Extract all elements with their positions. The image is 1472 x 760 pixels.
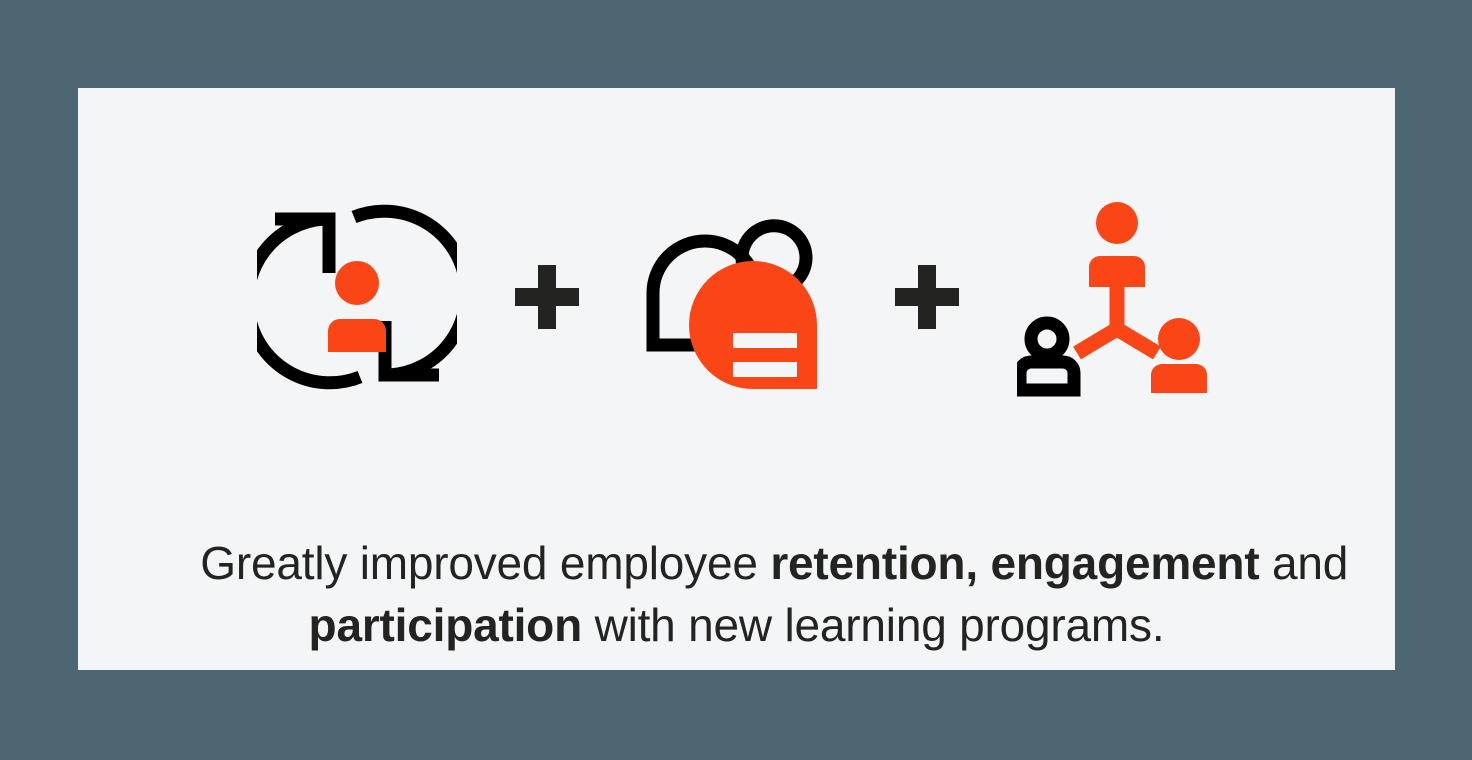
caption-segment — [978, 537, 991, 589]
icon-slot-engagement — [617, 184, 857, 414]
card-caption: Greatly improved employee retention, eng… — [107, 470, 1367, 718]
caption-segment: and — [1259, 537, 1360, 589]
plus-separator-1 — [477, 184, 617, 414]
caption-segment: with new learning programs. — [582, 599, 1164, 651]
content-card: Greatly improved employee retention, eng… — [78, 88, 1395, 670]
screenshot-stage: Greatly improved employee retention, eng… — [0, 0, 1472, 760]
caption-segment: Greatly improved employee — [200, 537, 770, 589]
employee-retention-cycle-icon — [257, 197, 457, 402]
plus-icon — [510, 260, 584, 339]
caption-segment-bold: retention, — [770, 537, 978, 589]
caption-segment-bold: engagement — [991, 537, 1260, 589]
icon-slot-retention — [237, 184, 477, 414]
caption-segment-bold: participation — [309, 599, 582, 651]
icon-slot-participation — [997, 184, 1237, 414]
conversation-bubbles-icon — [637, 197, 837, 402]
plus-separator-2 — [857, 184, 997, 414]
team-network-icon — [1017, 197, 1217, 402]
plus-icon — [890, 260, 964, 339]
icon-row — [78, 184, 1395, 414]
